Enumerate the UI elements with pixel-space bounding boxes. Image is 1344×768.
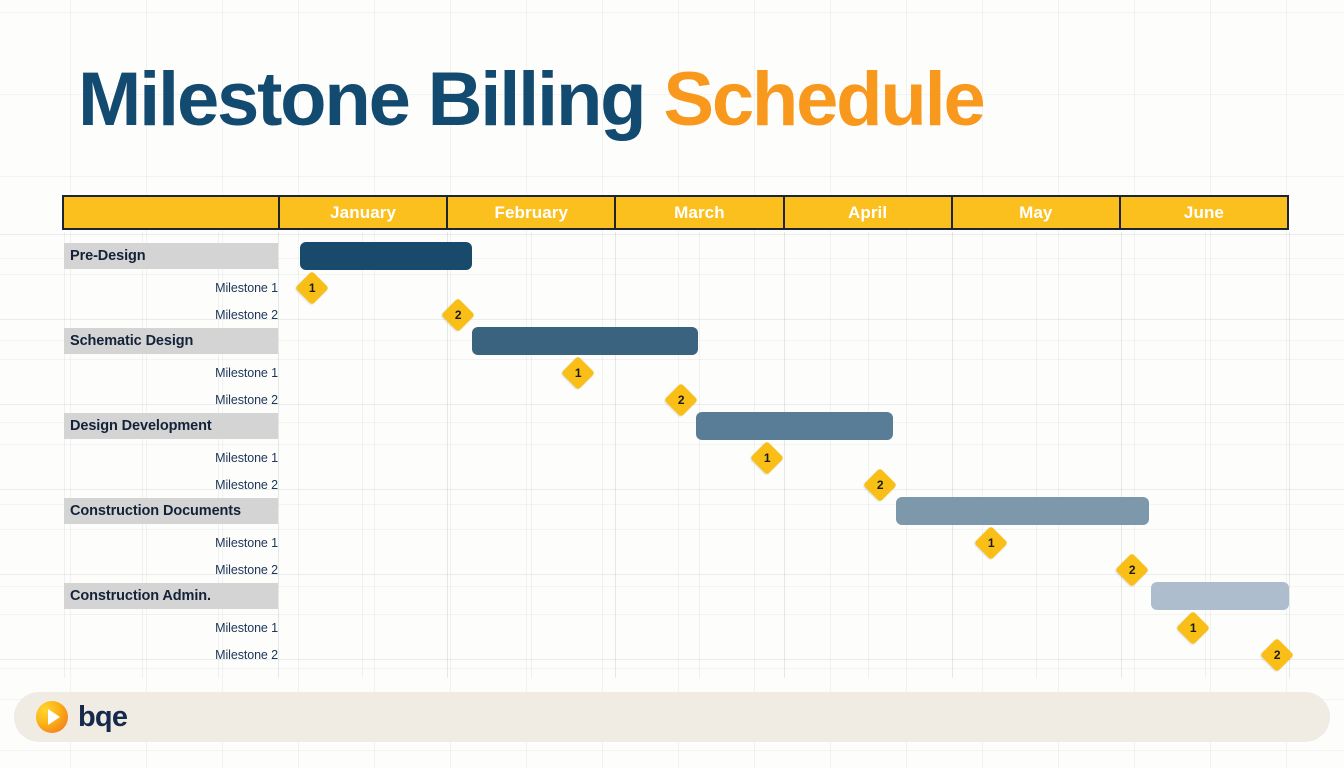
footer-bar [14,692,1330,742]
gantt-chart-body: Pre-DesignMilestone 11Milestone 22Schema… [0,232,1344,678]
month-header-march: March [616,197,784,228]
phase-label-schematic-design[interactable]: Schematic Design [64,328,278,354]
phase-label-construction-documents[interactable]: Construction Documents [64,498,278,524]
milestone-label: Milestone 2 [64,563,278,577]
milestone-label: Milestone 2 [64,478,278,492]
milestone-number: 2 [1129,564,1136,576]
milestone-number: 2 [677,394,684,406]
milestone-marker[interactable]: 1 [295,271,329,305]
phase-label-construction-admin[interactable]: Construction Admin. [64,583,278,609]
milestone-label: Milestone 1 [64,281,278,295]
grid-row-line [0,234,1344,235]
gantt-phase-row: Design DevelopmentMilestone 11Milestone … [0,408,1344,493]
gantt-phase-row: Schematic DesignMilestone 11Milestone 22 [0,323,1344,408]
month-header-may: May [953,197,1121,228]
page-title-accent: Schedule [663,57,983,142]
month-header-january: January [280,197,448,228]
milestone-number: 1 [308,282,315,294]
gantt-bar[interactable] [300,242,472,270]
milestone-number: 1 [1190,622,1197,634]
page-title: Milestone Billing Schedule [78,62,984,138]
gantt-bar[interactable] [472,327,698,355]
month-header-row: JanuaryFebruaryMarchAprilMayJune [62,195,1289,230]
milestone-number: 1 [987,537,994,549]
gantt-bar[interactable] [696,412,893,440]
milestone-number: 1 [575,367,582,379]
phase-label-pre-design[interactable]: Pre-Design [64,243,278,269]
milestone-label: Milestone 1 [64,451,278,465]
milestone-label: Milestone 1 [64,621,278,635]
slide-canvas: Milestone Billing Schedule JanuaryFebrua… [0,0,1344,768]
gantt-bar[interactable] [1151,582,1289,610]
brand-logo: bqe [36,701,127,733]
gantt-phase-row: Construction DocumentsMilestone 11Milest… [0,493,1344,578]
milestone-number: 2 [455,309,462,321]
gantt-phase-row: Pre-DesignMilestone 11Milestone 22 [0,238,1344,323]
milestone-number: 2 [876,479,883,491]
phase-label-design-development[interactable]: Design Development [64,413,278,439]
milestone-label: Milestone 1 [64,536,278,550]
milestone-label: Milestone 2 [64,648,278,662]
milestone-number: 2 [1274,649,1281,661]
milestone-marker[interactable]: 1 [974,526,1008,560]
month-header-june: June [1121,197,1287,228]
month-header-spacer [64,197,280,228]
brand-name: bqe [78,703,127,732]
play-circle-icon [36,701,68,733]
gantt-phase-row: Construction Admin.Milestone 11Milestone… [0,578,1344,663]
milestone-label: Milestone 2 [64,308,278,322]
month-header-february: February [448,197,616,228]
page-title-primary: Milestone Billing [78,57,663,142]
milestone-marker[interactable]: 1 [750,441,784,475]
milestone-marker[interactable]: 1 [561,356,595,390]
milestone-label: Milestone 2 [64,393,278,407]
milestone-marker[interactable]: 1 [1176,611,1210,645]
month-header-april: April [785,197,953,228]
gantt-bar[interactable] [896,497,1149,525]
milestone-number: 1 [763,452,770,464]
milestone-label: Milestone 1 [64,366,278,380]
